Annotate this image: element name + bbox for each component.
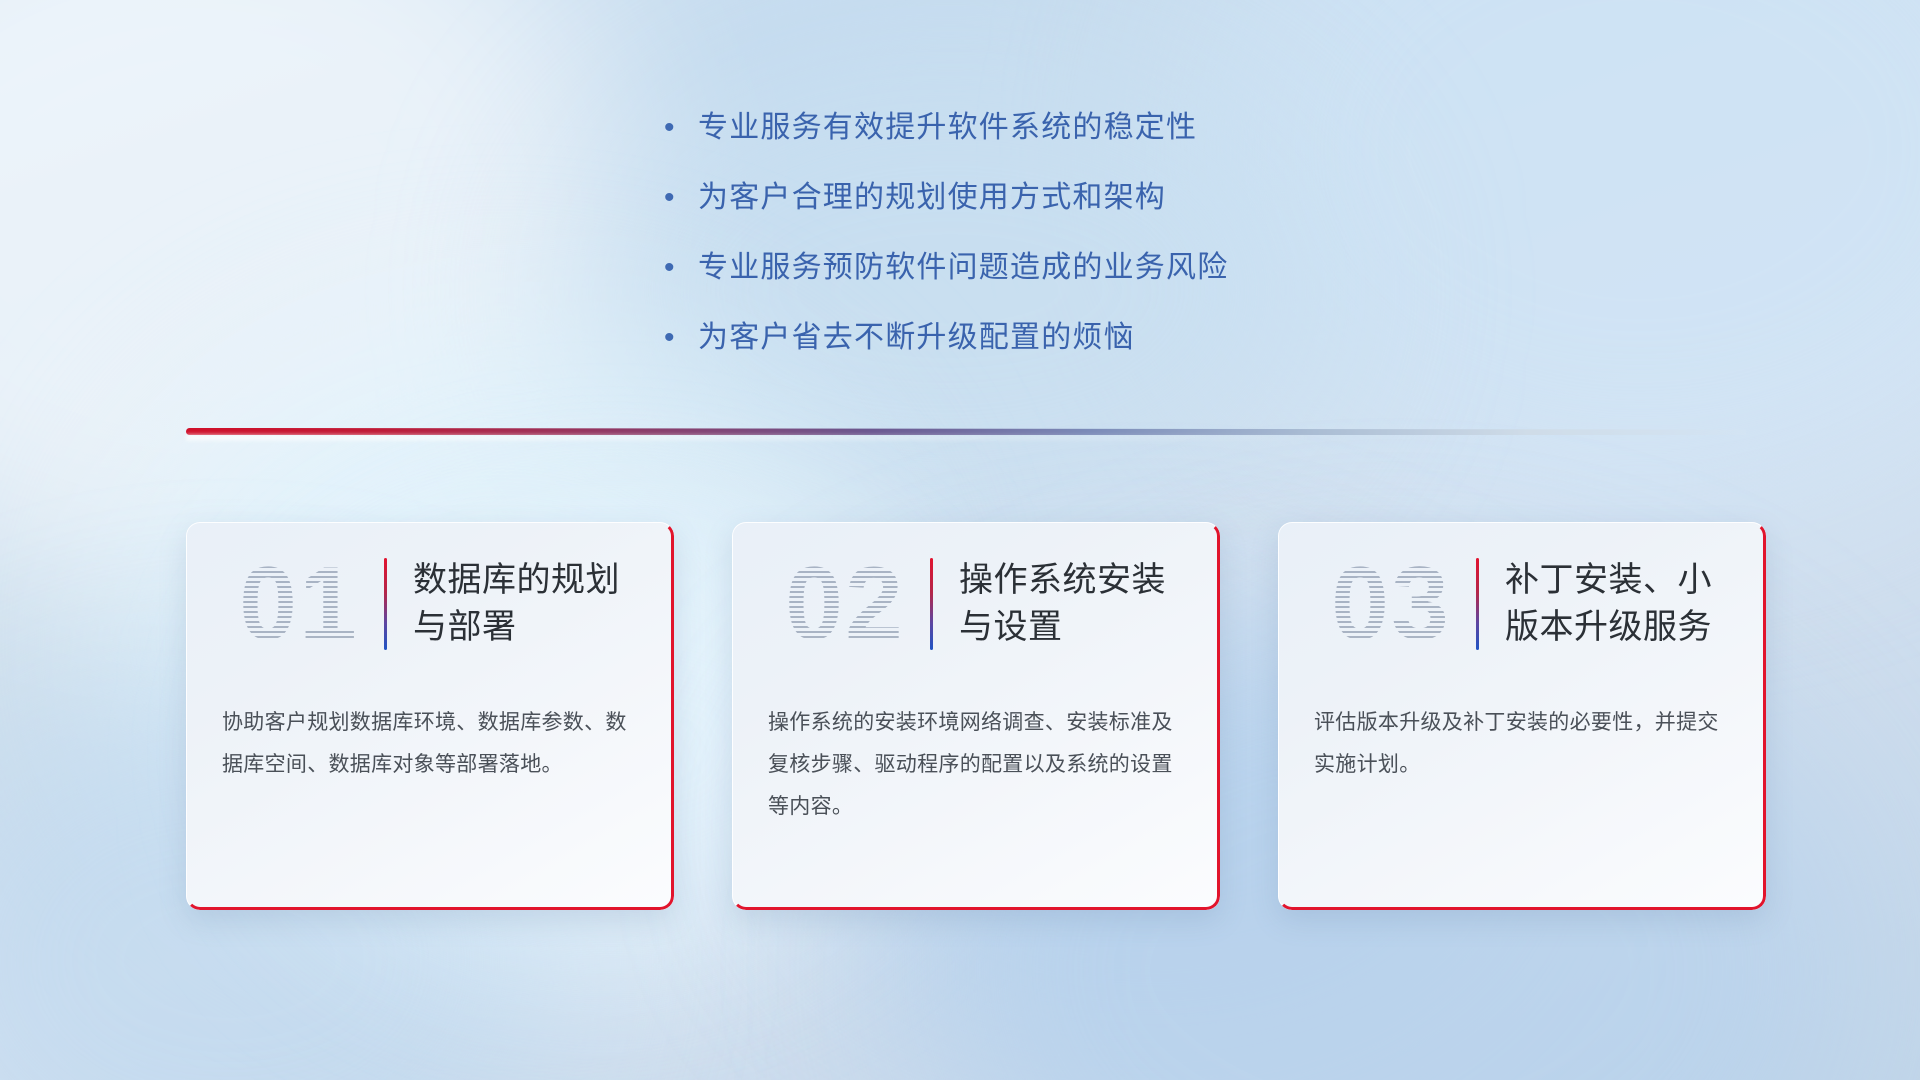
background-glow-top-left <box>0 0 640 600</box>
card-number-watermark: 01 <box>220 541 378 667</box>
card-header: 03 补丁安装、小版本升级服务 <box>1278 522 1766 658</box>
divider-highlight <box>186 435 1309 440</box>
card-divider-bar <box>384 558 387 650</box>
bullet-text: 专业服务预防软件问题造成的业务风险 <box>698 248 1228 288</box>
card-number-watermark: 02 <box>766 541 924 667</box>
section-divider <box>186 428 1746 446</box>
service-card-02[interactable]: 02 操作系统安装与设置 操作系统的安装环境网络调查、安装标准及复核步骤、驱动程… <box>732 522 1220 910</box>
card-description: 评估版本升级及补丁安装的必要性，并提交实施计划。 <box>1278 658 1766 786</box>
bullet-text: 为客户省去不断升级配置的烦恼 <box>698 318 1135 358</box>
card-header: 01 数据库的规划与部署 <box>186 522 674 658</box>
list-item: • 专业服务有效提升软件系统的稳定性 <box>660 108 1560 148</box>
bullet-marker-icon: • <box>660 248 698 288</box>
card-title: 补丁安装、小版本升级服务 <box>1505 557 1732 651</box>
service-card-01[interactable]: 01 数据库的规划与部署 协助客户规划数据库环境、数据库参数、数据库空间、数据库… <box>186 522 674 910</box>
card-number-watermark: 03 <box>1312 541 1470 667</box>
bullet-marker-icon: • <box>660 318 698 358</box>
service-card-03[interactable]: 03 补丁安装、小版本升级服务 评估版本升级及补丁安装的必要性，并提交实施计划。 <box>1278 522 1766 910</box>
bullet-marker-icon: • <box>660 108 698 148</box>
list-item: • 为客户合理的规划使用方式和架构 <box>660 178 1560 218</box>
list-item: • 专业服务预防软件问题造成的业务风险 <box>660 248 1560 288</box>
card-divider-bar <box>930 558 933 650</box>
card-title: 数据库的规划与部署 <box>413 557 640 651</box>
slide-canvas: • 专业服务有效提升软件系统的稳定性 • 为客户合理的规划使用方式和架构 • 专… <box>0 0 1920 1080</box>
bullet-text: 为客户合理的规划使用方式和架构 <box>698 178 1166 218</box>
card-description: 协助客户规划数据库环境、数据库参数、数据库空间、数据库对象等部署落地。 <box>186 658 674 786</box>
card-header: 02 操作系统安装与设置 <box>732 522 1220 658</box>
benefits-bullet-list: • 专业服务有效提升软件系统的稳定性 • 为客户合理的规划使用方式和架构 • 专… <box>660 108 1560 388</box>
card-title: 操作系统安装与设置 <box>959 557 1186 651</box>
card-divider-bar <box>1476 558 1479 650</box>
list-item: • 为客户省去不断升级配置的烦恼 <box>660 318 1560 358</box>
divider-gradient-rule <box>186 428 1746 435</box>
bullet-text: 专业服务有效提升软件系统的稳定性 <box>698 108 1197 148</box>
service-card-group: 01 数据库的规划与部署 协助客户规划数据库环境、数据库参数、数据库空间、数据库… <box>186 522 1766 910</box>
card-description: 操作系统的安装环境网络调查、安装标准及复核步骤、驱动程序的配置以及系统的设置等内… <box>732 658 1220 828</box>
bullet-marker-icon: • <box>660 178 698 218</box>
